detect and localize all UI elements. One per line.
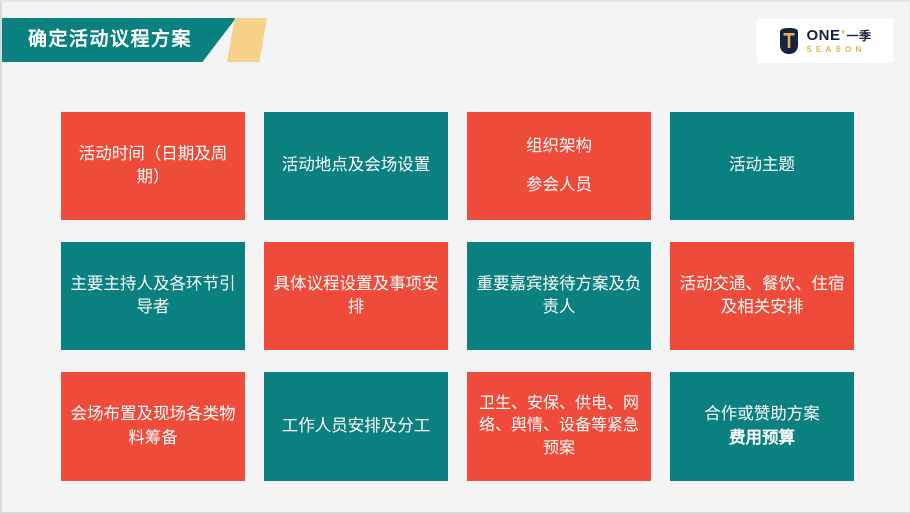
agenda-card-line: 主要主持人及各环节引导者	[68, 273, 238, 320]
agenda-card[interactable]: 活动时间（日期及周期）	[61, 112, 245, 220]
agenda-card[interactable]: 活动主题	[670, 112, 854, 220]
agenda-card[interactable]: 工作人员安排及分工	[264, 372, 448, 481]
agenda-card[interactable]: 具体议程设置及事项安排	[264, 242, 448, 350]
agenda-card-line: 会场布置及现场各类物料筹备	[68, 403, 238, 450]
slide-canvas: 确定活动议程方案 ONE'一季 SEASON 活动时间（日期及周期）活动地点及会…	[0, 0, 910, 514]
agenda-card-line: 重要嘉宾接待方案及负责人	[474, 273, 644, 320]
agenda-card[interactable]: 合作或赞助方案费用预算	[670, 372, 854, 481]
header-banner: 确定活动议程方案	[2, 18, 272, 62]
agenda-card-line: 具体议程设置及事项安排	[271, 273, 441, 320]
agenda-card-line: 活动交通、餐饮、住宿及相关安排	[677, 273, 847, 320]
agenda-card-grid: 活动时间（日期及周期）活动地点及会场设置组织架构参会人员活动主题主要主持人及各环…	[61, 112, 854, 481]
header-banner-gold-accent	[227, 18, 267, 62]
agenda-card-line: 组织架构	[526, 135, 592, 158]
agenda-card-line: 卫生、安保、供电、网络、舆情、设备等紧急预案	[474, 393, 644, 459]
agenda-card[interactable]: 主要主持人及各环节引导者	[61, 242, 245, 350]
agenda-card-line: 工作人员安排及分工	[282, 415, 431, 438]
agenda-card-line: 活动主题	[729, 154, 795, 177]
agenda-card-line: 活动地点及会场设置	[282, 154, 431, 177]
agenda-card[interactable]: 活动地点及会场设置	[264, 112, 448, 220]
one-season-emblem-icon	[778, 27, 800, 55]
agenda-card[interactable]: 活动交通、餐饮、住宿及相关安排	[670, 242, 854, 350]
agenda-card[interactable]: 重要嘉宾接待方案及负责人	[467, 242, 651, 350]
agenda-card[interactable]: 卫生、安保、供电、网络、舆情、设备等紧急预案	[467, 372, 651, 481]
agenda-card-line: 参会人员	[526, 174, 592, 197]
agenda-card-line: 费用预算	[729, 427, 795, 450]
brand-subtitle: SEASON	[806, 46, 871, 54]
brand-logo: ONE'一季 SEASON	[757, 19, 893, 63]
slide-title: 确定活动议程方案	[28, 18, 192, 62]
brand-logo-inner: ONE'一季 SEASON	[778, 27, 871, 55]
brand-logo-text: ONE'一季 SEASON	[806, 28, 871, 54]
brand-name-line: ONE'一季	[806, 28, 871, 43]
agenda-card[interactable]: 会场布置及现场各类物料筹备	[61, 372, 245, 481]
brand-name-cn: 一季	[847, 30, 872, 42]
brand-name-one: ONE	[806, 28, 840, 43]
agenda-card-line: 活动时间（日期及周期）	[68, 143, 238, 190]
agenda-card[interactable]: 组织架构参会人员	[467, 112, 651, 220]
agenda-card-line: 合作或赞助方案	[704, 403, 820, 426]
